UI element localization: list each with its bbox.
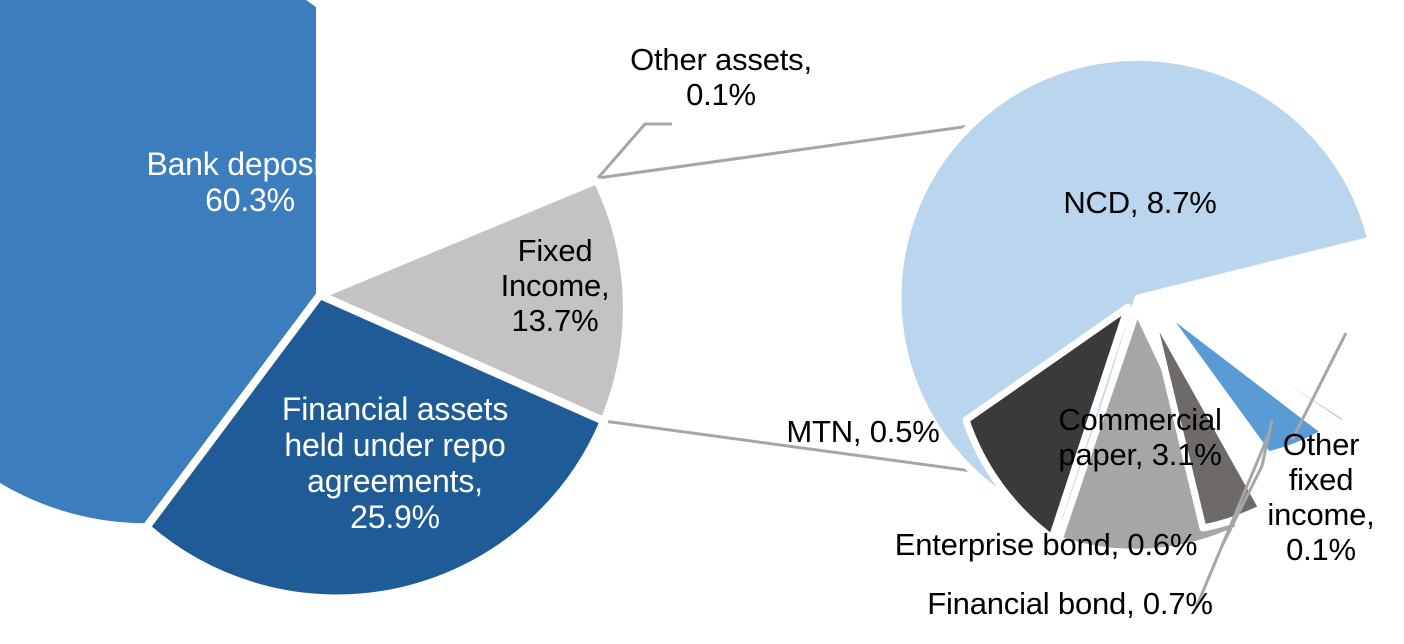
pie-chart-figure: Bank deposits, 60.3% Fixed Income, 13.7%… [0, 0, 1404, 644]
label-repo-agreements: Financial assets held under repo agreeme… [250, 391, 540, 536]
label-bank-deposits: Bank deposits, 60.3% [120, 146, 380, 218]
label-ncd: NCD, 8.7% [1035, 185, 1245, 220]
label-fixed-income: Fixed Income, 13.7% [475, 233, 635, 338]
label-other-fixed-income: Other fixed income, 0.1% [1258, 427, 1384, 567]
label-mtn: MTN, 0.5% [768, 414, 958, 449]
label-commercial-paper: Commercial paper, 3.1% [1040, 402, 1240, 472]
label-financial-bond: Financial bond, 0.7% [900, 586, 1240, 621]
label-enterprise-bond: Enterprise bond, 0.6% [872, 527, 1220, 562]
label-other-assets: Other assets, 0.1% [596, 42, 846, 112]
